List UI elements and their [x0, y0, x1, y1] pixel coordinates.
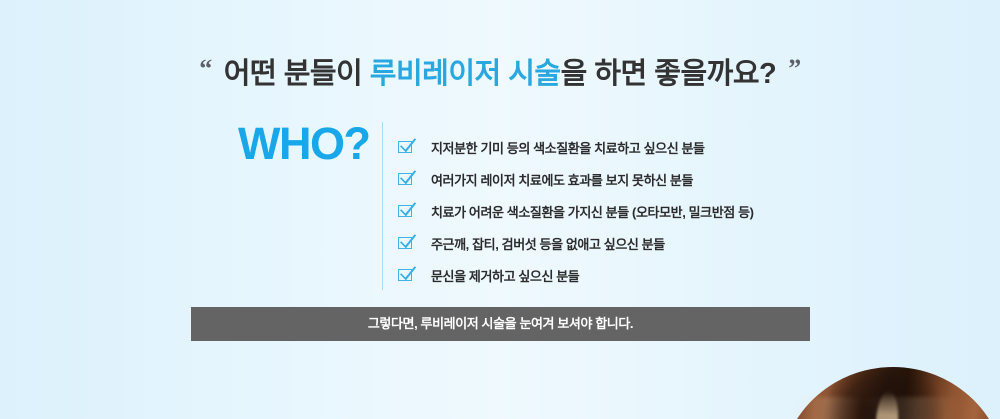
model-hair [780, 367, 1000, 419]
vertical-divider [382, 122, 383, 290]
list-item-label: 치료가 어려운 색소질환을 가지신 분들 (오타모반, 밀크반점 등) [431, 197, 754, 229]
open-quote-icon: “ [199, 54, 212, 83]
cta-bar: 그렇다면, 루비레이저 시술을 눈여겨 보셔야 합니다. [191, 307, 810, 341]
model-photo [780, 367, 1000, 419]
check-icon [398, 171, 415, 186]
headline-text-before: 어떤 분들이 [224, 58, 370, 90]
list-item: 주근깨, 잡티, 검버섯 등을 없애고 싶으신 분들 [398, 229, 828, 261]
check-icon [398, 139, 415, 154]
list-item: 지저분한 기미 등의 색소질환을 치료하고 싶으신 분들 [398, 133, 828, 165]
headline-accent-text: 루비레이저 시술 [370, 58, 561, 90]
check-icon [398, 235, 415, 250]
page-title: “어떤 분들이 루비레이저 시술을 하면 좋을까요?” [0, 50, 1000, 92]
checklist: 지저분한 기미 등의 색소질환을 치료하고 싶으신 분들 여러가지 레이저 치료… [398, 133, 828, 293]
list-item-label: 지저분한 기미 등의 색소질환을 치료하고 싶으신 분들 [431, 133, 705, 165]
list-item-label: 여러가지 레이저 치료에도 효과를 보지 못하신 분들 [431, 165, 693, 197]
headline-text-after: 을 하면 좋을까요? [561, 58, 777, 90]
check-icon [398, 203, 415, 218]
list-item-label: 문신을 제거하고 싶으신 분들 [431, 261, 579, 293]
close-quote-icon: ” [788, 54, 801, 83]
list-item: 여러가지 레이저 치료에도 효과를 보지 못하신 분들 [398, 165, 828, 197]
cta-bar-label: 그렇다면, 루비레이저 시술을 눈여겨 보셔야 합니다. [191, 307, 810, 341]
model-hair-sheen [792, 397, 992, 419]
promo-banner: “어떤 분들이 루비레이저 시술을 하면 좋을까요?” WHO? 지저분한 기미… [0, 0, 1000, 419]
list-item-label: 주근깨, 잡티, 검버섯 등을 없애고 싶으신 분들 [431, 229, 665, 261]
list-item: 치료가 어려운 색소질환을 가지신 분들 (오타모반, 밀크반점 등) [398, 197, 828, 229]
who-label: WHO? [238, 118, 368, 170]
model-hair-part [874, 390, 900, 419]
list-item: 문신을 제거하고 싶으신 분들 [398, 261, 828, 293]
check-icon [398, 267, 415, 282]
